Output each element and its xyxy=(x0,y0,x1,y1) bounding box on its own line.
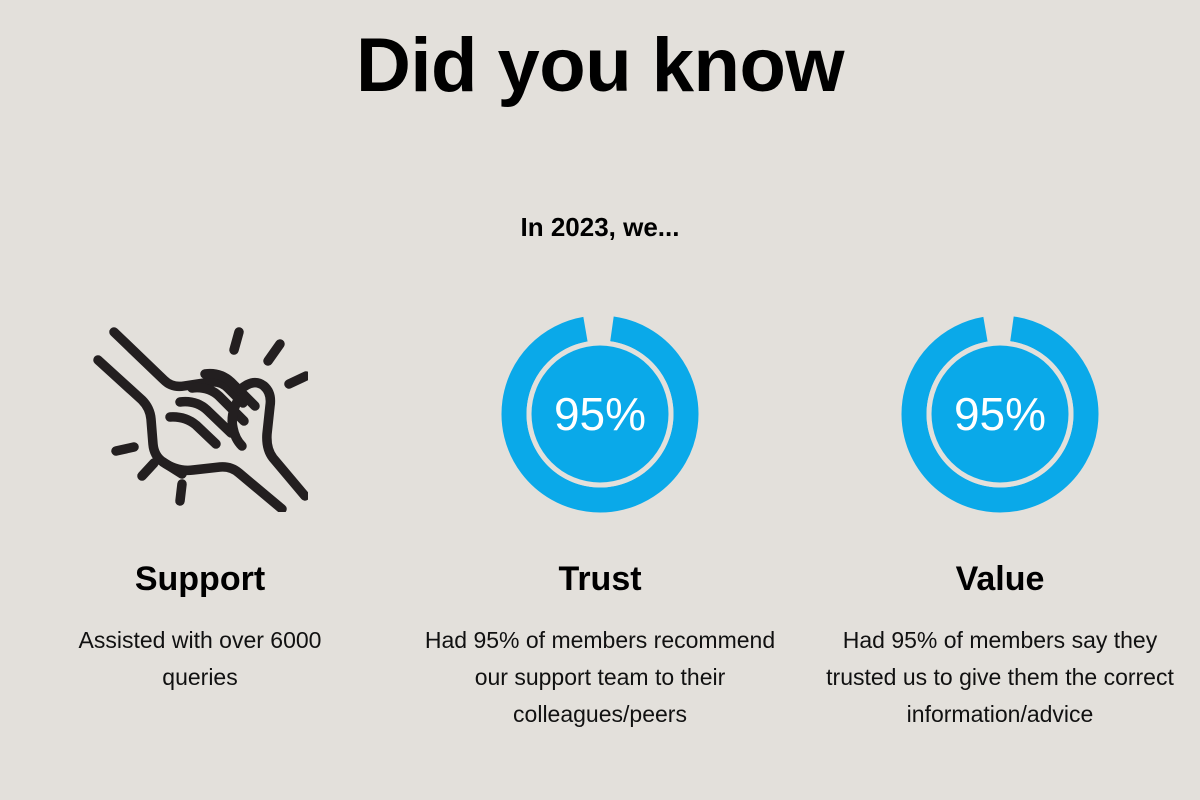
infographic-slide: Did you know In 2023, we... xyxy=(0,0,1200,800)
support-visual xyxy=(92,300,308,528)
stat-column-value: 95% Value Had 95% of members say they tr… xyxy=(800,300,1200,733)
trust-donut-chart: 95% xyxy=(500,314,700,514)
stat-columns: Support Assisted with over 6000 queries xyxy=(0,300,1200,733)
trust-donut-value: 95% xyxy=(500,314,700,514)
stat-column-trust: 95% Trust Had 95% of members recommend o… xyxy=(400,300,800,733)
trust-visual: 95% xyxy=(500,300,700,528)
trust-title: Trust xyxy=(558,562,641,596)
hands-teamwork-icon xyxy=(92,316,308,512)
stat-column-support: Support Assisted with over 6000 queries xyxy=(0,300,400,696)
page-title: Did you know xyxy=(0,26,1200,106)
value-body: Had 95% of members say they trusted us t… xyxy=(820,622,1180,733)
value-donut-chart: 95% xyxy=(900,314,1100,514)
trust-body: Had 95% of members recommend our support… xyxy=(420,622,780,733)
page-subtitle: In 2023, we... xyxy=(0,212,1200,243)
value-donut-value: 95% xyxy=(900,314,1100,514)
value-title: Value xyxy=(956,562,1045,596)
value-visual: 95% xyxy=(900,300,1100,528)
support-title: Support xyxy=(135,562,265,596)
support-body: Assisted with over 6000 queries xyxy=(50,622,350,696)
